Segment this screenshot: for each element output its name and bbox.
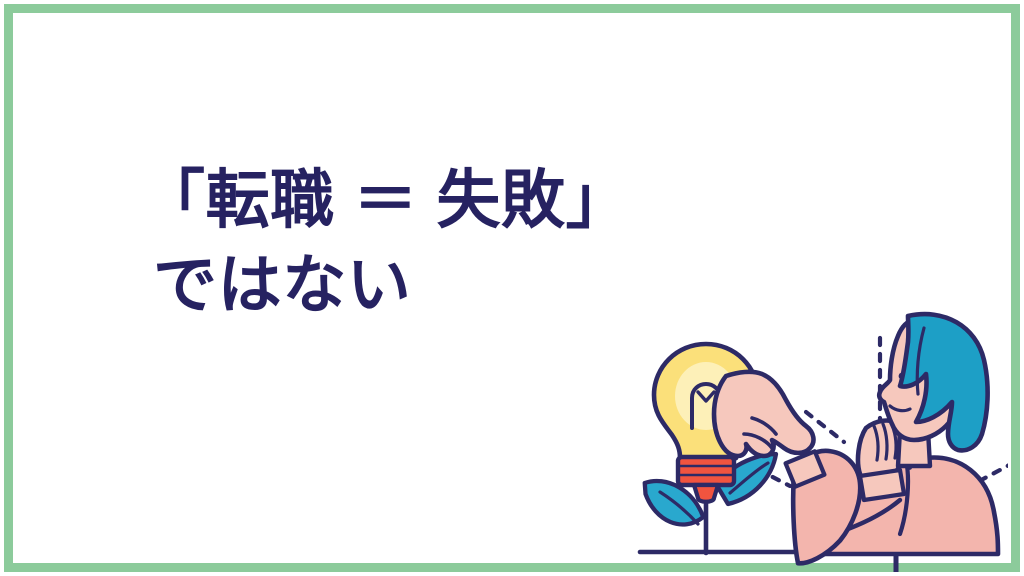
illustration-svg xyxy=(608,272,1008,572)
page-title-line-1: 「転職 ＝ 失敗」 xyxy=(141,158,761,243)
slide-canvas: 「転職 ＝ 失敗」 ではない xyxy=(0,0,1024,576)
thinking-woman-pointing-at-lightbulb-illustration xyxy=(608,272,1008,572)
pointing-hand-icon xyxy=(714,372,813,456)
woman-figure xyxy=(714,314,998,564)
